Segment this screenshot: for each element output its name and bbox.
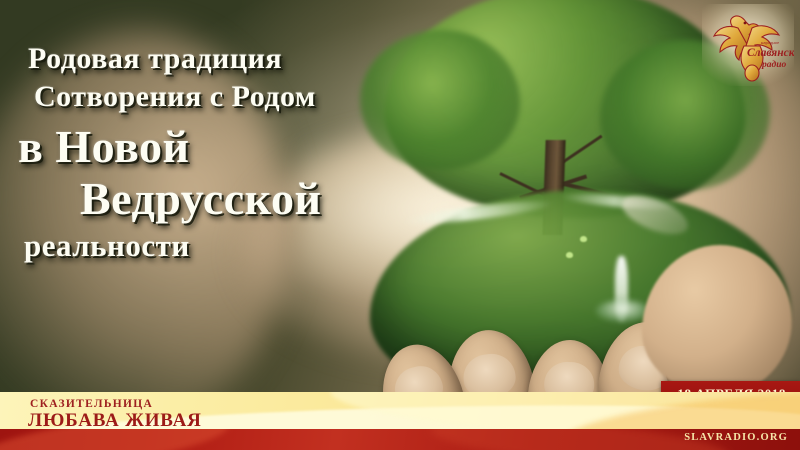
- banner-red-strip: [0, 429, 800, 450]
- site-url[interactable]: SLAVRADIO.ORG: [684, 432, 788, 443]
- butterfly: [566, 252, 573, 258]
- title-line-4: Ведрусской: [80, 176, 470, 222]
- svg-text:радио: радио: [761, 59, 786, 70]
- bottom-banner: Сказительница Любава Живая SLAVRADIO.ORG: [0, 392, 800, 450]
- butterfly: [580, 236, 587, 242]
- poster-title: Родовая традиция Сотворения с Родом в Но…: [0, 0, 470, 261]
- speaker-name: Любава Живая: [28, 410, 202, 432]
- svg-text:народное: народное: [761, 40, 779, 45]
- promo-poster: народное Славянское радио Родовая традиц…: [0, 0, 800, 450]
- title-line-5: реальности: [24, 230, 470, 261]
- speaker-role: Сказительница: [30, 398, 153, 410]
- banner-swoosh: [0, 429, 232, 450]
- title-line-3: в Новой: [18, 124, 470, 170]
- title-line-2: Сотворения с Родом: [34, 82, 470, 112]
- svg-text:Славянское: Славянское: [747, 47, 794, 59]
- slavyanskoe-radio-logo[interactable]: народное Славянское радио: [702, 4, 794, 86]
- title-line-1: Родовая традиция: [28, 44, 470, 74]
